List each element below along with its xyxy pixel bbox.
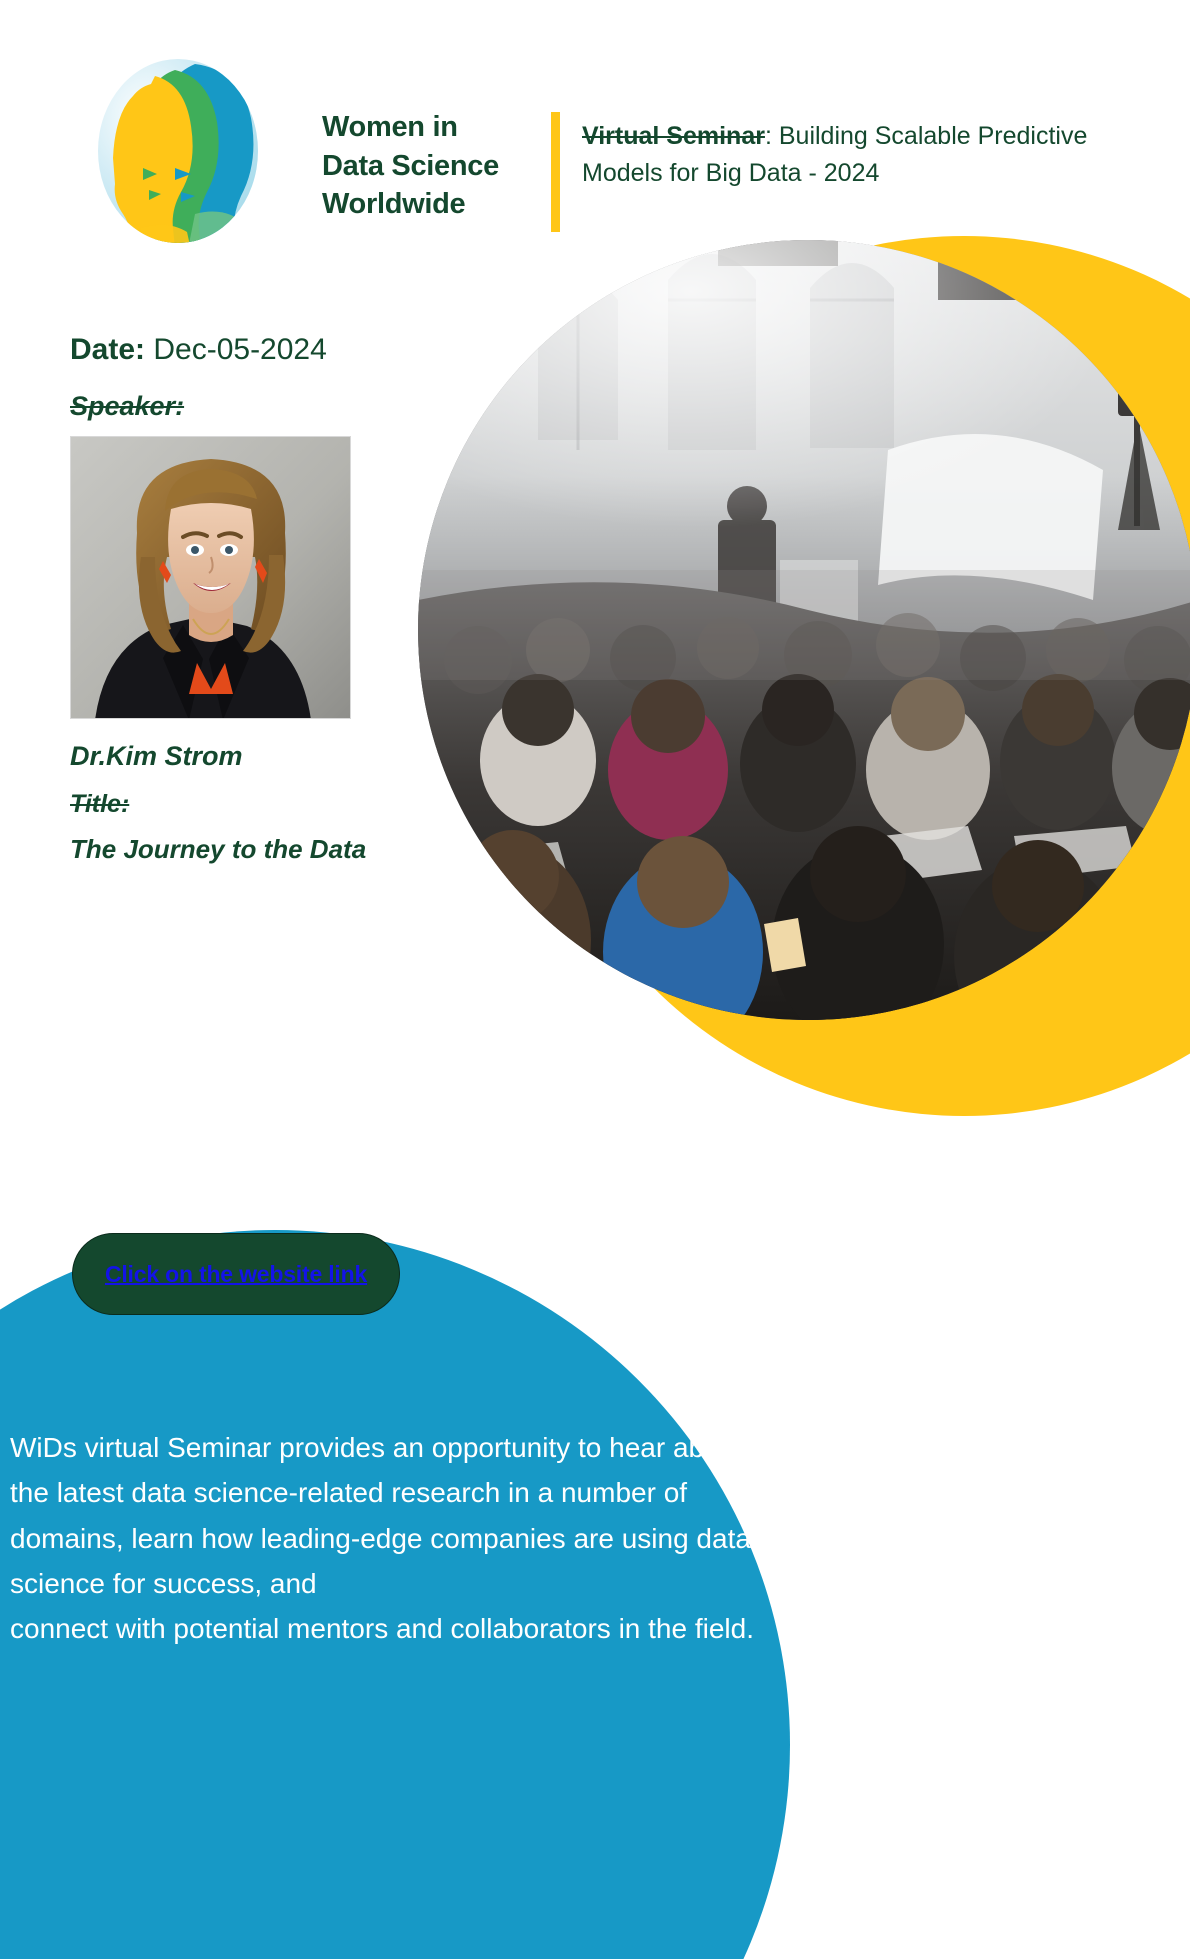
date-row: Date: Dec-05-2024 [70, 330, 450, 369]
brand-line-3: Worldwide [322, 185, 542, 224]
brand-name: Women in Data Science Worldwide [322, 108, 542, 224]
poster-canvas: Women in Data Science Worldwide Virtual … [0, 0, 1190, 1959]
talk-title: The Journey to the Data [70, 831, 370, 868]
website-link-label[interactable]: Click on the website link [105, 1261, 367, 1288]
seminar-title-separator: : [765, 122, 779, 150]
brand-divider [551, 112, 560, 232]
talk-title-label: Title: [70, 790, 450, 819]
brand-line-2: Data Science [322, 147, 542, 186]
brand-line-1: Women in [322, 108, 542, 147]
globe-faces-logo-icon [83, 56, 273, 246]
speaker-headshot [70, 436, 351, 719]
date-label: Date: [70, 333, 145, 366]
seminar-audience-photo [418, 240, 1190, 1020]
date-value: Dec-05-2024 [153, 333, 326, 366]
seminar-title: Virtual Seminar: Building Scalable Predi… [582, 118, 1102, 191]
seminar-title-prefix: Virtual Seminar [582, 122, 765, 150]
speaker-name: Dr.Kim Strom [70, 741, 450, 772]
description-paragraph-2: connect with potential mentors and colla… [10, 1606, 770, 1651]
poster-header: Women in Data Science Worldwide Virtual … [0, 0, 1190, 250]
description-paragraph-1: WiDs virtual Seminar provides an opportu… [10, 1425, 770, 1606]
website-link-button[interactable]: Click on the website link [72, 1233, 400, 1315]
event-details: Date: Dec-05-2024 Speaker: [70, 330, 450, 868]
description-block: WiDs virtual Seminar provides an opportu… [10, 1425, 770, 1652]
speaker-label: Speaker: [70, 391, 450, 422]
